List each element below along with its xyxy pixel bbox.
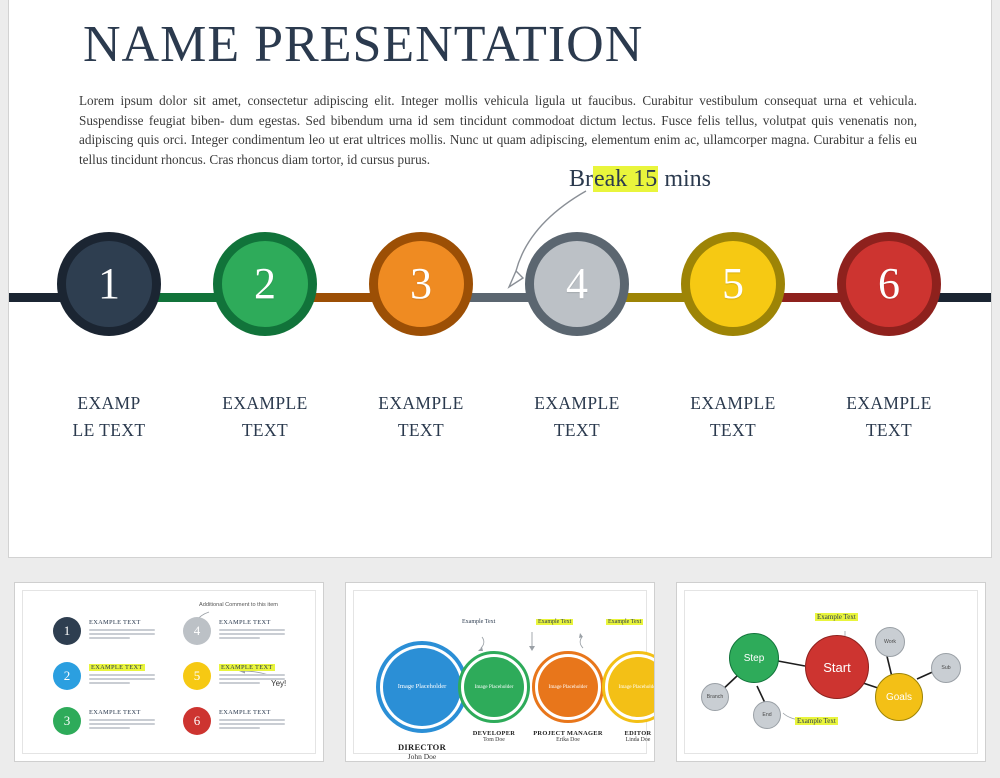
- timeline-connector: [313, 293, 373, 302]
- avatar: Image Placeholder: [383, 648, 461, 726]
- mind-map-node-start[interactable]: Start: [805, 635, 869, 699]
- list-item-badge-6: 6: [183, 707, 211, 735]
- list-item-heading: EXAMPLE TEXT: [89, 709, 141, 716]
- presentation-viewer: NAME PRESENTATION Lorem ipsum dolor sit …: [0, 0, 1000, 778]
- timeline-node-2[interactable]: 2: [213, 232, 317, 336]
- mind-map-node-work[interactable]: Work: [875, 627, 905, 657]
- avatar-ring: Image Placeholder: [532, 651, 604, 723]
- label-line-1: EXAMPLE: [673, 390, 793, 417]
- avatar-ring: Image Placeholder: [458, 651, 530, 723]
- timeline-node-6[interactable]: 6: [837, 232, 941, 336]
- avatar-ring: Image Placeholder: [376, 641, 468, 733]
- mind-map-example-top: Example Text: [815, 613, 858, 621]
- team-member-role: DEVELOPER: [458, 730, 530, 737]
- list-item-heading: EXAMPLE TEXT: [219, 709, 271, 716]
- team-member-name: Erika Doe: [532, 737, 604, 743]
- list-item-badge-2: 2: [53, 662, 81, 690]
- avatar-ring: Image Placeholder: [602, 651, 655, 723]
- timeline-node-4[interactable]: 4: [525, 232, 629, 336]
- team-member-name: Tom Doe: [458, 737, 530, 743]
- list-item-body-lines: [89, 719, 155, 731]
- timeline-label-5: EXAMPLETEXT: [673, 390, 793, 444]
- body-paragraph: Lorem ipsum dolor sit amet, consectetur …: [79, 91, 917, 169]
- timeline-connector: [625, 293, 685, 302]
- thumbnail-team-roles[interactable]: Image PlaceholderDIRECTORJohn DoeImage P…: [345, 582, 655, 762]
- label-line-2: TEXT: [361, 417, 481, 444]
- timeline-connector: [157, 293, 217, 302]
- label-line-1: EXAMPLE: [361, 390, 481, 417]
- timeline-node-3[interactable]: 3: [369, 232, 473, 336]
- main-slide[interactable]: NAME PRESENTATION Lorem ipsum dolor sit …: [8, 0, 992, 558]
- list-item-body-lines: [89, 629, 155, 641]
- timeline-label-3: EXAMPLETEXT: [361, 390, 481, 444]
- example-text-label: Example Text: [606, 619, 643, 625]
- mind-map-node-end[interactable]: End: [753, 701, 781, 729]
- mind-map-example-bottom: Example Text: [795, 717, 838, 725]
- break-callout-suffix: mins: [658, 166, 711, 192]
- timeline-connector: [937, 293, 992, 302]
- timeline-node-1[interactable]: 1: [57, 232, 161, 336]
- timeline-connector: [9, 293, 61, 302]
- timeline-labels: EXAMPLE TEXTEXAMPLETEXTEXAMPLETEXTEXAMPL…: [9, 390, 992, 460]
- timeline-connector: [781, 293, 841, 302]
- team-member-card[interactable]: Image PlaceholderPROJECT MANAGERErika Do…: [532, 651, 604, 743]
- team-member-name: Linda Doe: [602, 737, 655, 743]
- mind-map-node-sub[interactable]: Sub: [931, 653, 961, 683]
- team-member-card[interactable]: Image PlaceholderDEVELOPERTom Doe: [458, 651, 530, 743]
- thumbnail-mind-map[interactable]: Example Text Example Text StartStepGoals…: [676, 582, 986, 762]
- label-line-1: EXAMPLE: [829, 390, 949, 417]
- label-line-1: EXAMPLE: [517, 390, 637, 417]
- timeline-label-1: EXAMPLE TEXT: [49, 390, 169, 444]
- timeline-connector: [469, 293, 529, 302]
- list-item-body-lines: [219, 674, 285, 686]
- thumbnail-numbered-list[interactable]: Additional Comment to this item Yey! 1EX…: [14, 582, 324, 762]
- mind-map-node-branch[interactable]: Branch: [701, 683, 729, 711]
- list-item-heading: EXAMPLE TEXT: [89, 619, 141, 626]
- team-member-name: John Doe: [376, 752, 468, 761]
- label-line-2: TEXT: [205, 417, 325, 444]
- label-line-1: EXAMP: [49, 390, 169, 417]
- example-text-label: Example Text: [462, 619, 495, 625]
- team-member-card[interactable]: Image PlaceholderEDITORLinda Doe: [602, 651, 655, 743]
- team-member-role: PROJECT MANAGER: [532, 730, 604, 737]
- example-text-label: Example Text: [536, 619, 573, 625]
- label-line-1: EXAMPLE: [205, 390, 325, 417]
- list-item-body-lines: [219, 719, 285, 731]
- timeline-label-2: EXAMPLETEXT: [205, 390, 325, 444]
- list-item-badge-3: 3: [53, 707, 81, 735]
- avatar: Image Placeholder: [464, 657, 524, 717]
- mind-map-node-goals[interactable]: Goals: [875, 673, 923, 721]
- timeline-label-6: EXAMPLETEXT: [829, 390, 949, 444]
- mind-map-node-step[interactable]: Step: [729, 633, 779, 683]
- avatar: Image Placeholder: [538, 657, 598, 717]
- list-item-heading: EXAMPLE TEXT: [219, 664, 275, 671]
- timeline-label-4: EXAMPLETEXT: [517, 390, 637, 444]
- list-item-heading: EXAMPLE TEXT: [89, 664, 145, 671]
- list-item-heading: EXAMPLE TEXT: [219, 619, 271, 626]
- page-title: NAME PRESENTATION: [83, 14, 643, 76]
- avatar: Image Placeholder: [608, 657, 655, 717]
- thumbnail-1-canvas: Additional Comment to this item Yey! 1EX…: [22, 590, 316, 754]
- list-item-body-lines: [89, 674, 155, 686]
- list-item-badge-1: 1: [53, 617, 81, 645]
- thumbnail-strip: Additional Comment to this item Yey! 1EX…: [0, 570, 1000, 778]
- list-item-badge-5: 5: [183, 662, 211, 690]
- timeline-node-5[interactable]: 5: [681, 232, 785, 336]
- team-member-card[interactable]: Image PlaceholderDIRECTORJohn Doe: [376, 641, 468, 761]
- timeline: 123456: [9, 232, 992, 362]
- label-line-2: TEXT: [673, 417, 793, 444]
- list-item-body-lines: [219, 629, 285, 641]
- team-member-role: EDITOR: [602, 730, 655, 737]
- label-line-2: TEXT: [517, 417, 637, 444]
- thumbnail-2-canvas: Image PlaceholderDIRECTORJohn DoeImage P…: [353, 590, 647, 754]
- list-item-badge-4: 4: [183, 617, 211, 645]
- label-line-2: TEXT: [829, 417, 949, 444]
- label-line-2: LE TEXT: [49, 417, 169, 444]
- thumbnail-3-canvas: Example Text Example Text StartStepGoals…: [684, 590, 978, 754]
- team-member-role: DIRECTOR: [376, 742, 468, 752]
